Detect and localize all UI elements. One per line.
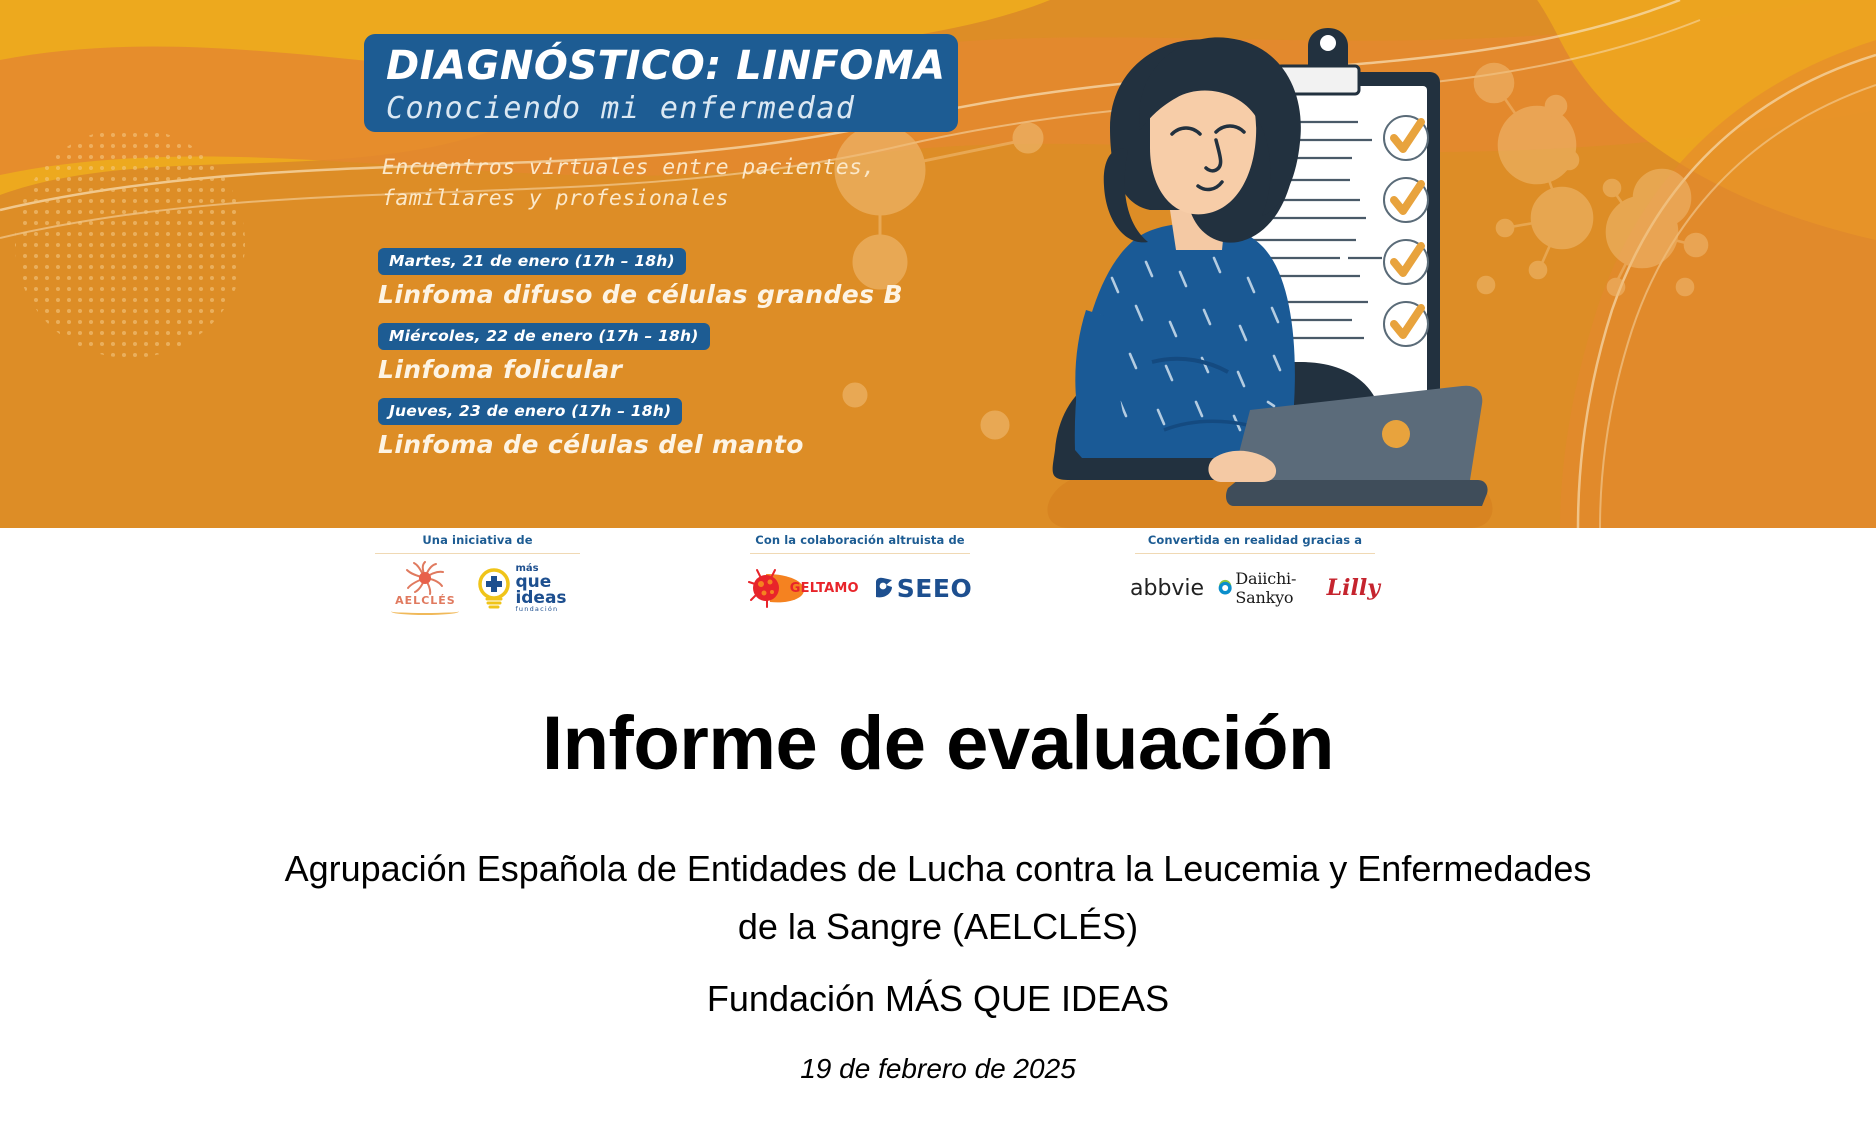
aelcles-logo: AELCLÉS — [388, 561, 462, 615]
organization-name: Agrupación Española de Entidades de Luch… — [188, 840, 1688, 956]
aelcles-swoosh — [391, 608, 459, 615]
daiichi-sankyo-mark-icon — [1218, 577, 1232, 599]
session-date-chip: Jueves, 23 de enero (17h – 18h) — [378, 398, 682, 425]
foundation-name: Fundación MÁS QUE IDEAS — [0, 978, 1876, 1020]
lilly-wordmark: Lilly — [1327, 575, 1380, 601]
session-item: Martes, 21 de enero (17h – 18h) Linfoma … — [378, 248, 1018, 309]
event-banner: DIAGNÓSTICO: LINFOMA Conociendo mi enfer… — [0, 0, 1876, 528]
abbvie-wordmark: abbvie — [1130, 576, 1204, 601]
sponsor-bar: Una iniciativa de AELCLÉS — [0, 528, 1876, 643]
mas-que-ideas-logo: más que ideas fundación — [476, 564, 566, 613]
banner-title: DIAGNÓSTICO: LINFOMA — [386, 43, 938, 89]
sponsor-group-initiative: Una iniciativa de AELCLÉS — [370, 528, 585, 616]
geltamo-logo: GELTAMO — [748, 568, 859, 608]
lightbulb-plus-icon — [476, 567, 512, 609]
banner-subtitle: Conociendo mi enfermedad — [386, 89, 938, 129]
sponsor-group-heading: Convertida en realidad gracias a — [1130, 528, 1380, 547]
session-topic: Linfoma folicular — [378, 355, 1018, 384]
session-item: Miércoles, 22 de enero (17h – 18h) Linfo… — [378, 323, 1018, 384]
daiichi-sankyo-logo: Daiichi-Sankyo — [1218, 569, 1313, 607]
seeo-wordmark: SEEO — [897, 574, 972, 603]
abbvie-logo: abbvie — [1130, 576, 1204, 601]
banner-lede-line1: Encuentros virtuales entre pacientes, — [382, 152, 962, 183]
session-topic: Linfoma difuso de células grandes B — [378, 280, 1018, 309]
session-topic: Linfoma de células del manto — [378, 430, 1018, 459]
woman-with-laptop-illustration — [1000, 10, 1520, 528]
banner-lede: Encuentros virtuales entre pacientes, fa… — [382, 152, 962, 214]
sponsor-group-heading: Una iniciativa de — [370, 528, 585, 547]
seeo-mark-icon — [873, 575, 895, 601]
organization-line-1: Agrupación Española de Entidades de Luch… — [188, 840, 1688, 898]
session-date-chip: Martes, 21 de enero (17h – 18h) — [378, 248, 686, 275]
geltamo-wordmark: GELTAMO — [790, 581, 859, 596]
daiichi-sankyo-wordmark: Daiichi-Sankyo — [1235, 569, 1312, 607]
session-list: Martes, 21 de enero (17h – 18h) Linfoma … — [378, 248, 1018, 473]
organization-line-2: de la Sangre (AELCLÉS) — [188, 898, 1688, 956]
sponsor-group-funders: Convertida en realidad gracias a abbvie … — [1130, 528, 1380, 616]
document-date: 19 de febrero de 2025 — [0, 1053, 1876, 1085]
aelcles-wordmark: AELCLÉS — [395, 594, 456, 607]
lilly-logo: Lilly — [1327, 575, 1380, 601]
aelcles-flower-icon — [402, 561, 448, 595]
session-item: Jueves, 23 de enero (17h – 18h) Linfoma … — [378, 398, 1018, 459]
report-cover-page: DIAGNÓSTICO: LINFOMA Conociendo mi enfer… — [0, 0, 1876, 1144]
session-date-chip: Miércoles, 22 de enero (17h – 18h) — [378, 323, 710, 350]
sponsor-group-heading: Con la colaboración altruista de — [745, 528, 975, 547]
seeo-logo: SEEO — [873, 574, 972, 603]
mas-que-ideas-wordmark: más que ideas fundación — [515, 564, 566, 613]
page-title: Informe de evaluación — [0, 700, 1876, 787]
banner-title-plaque: DIAGNÓSTICO: LINFOMA Conociendo mi enfer… — [364, 34, 958, 132]
banner-lede-line2: familiares y profesionales — [382, 183, 962, 214]
sponsor-group-collaboration: Con la colaboración altruista de — [745, 528, 975, 616]
